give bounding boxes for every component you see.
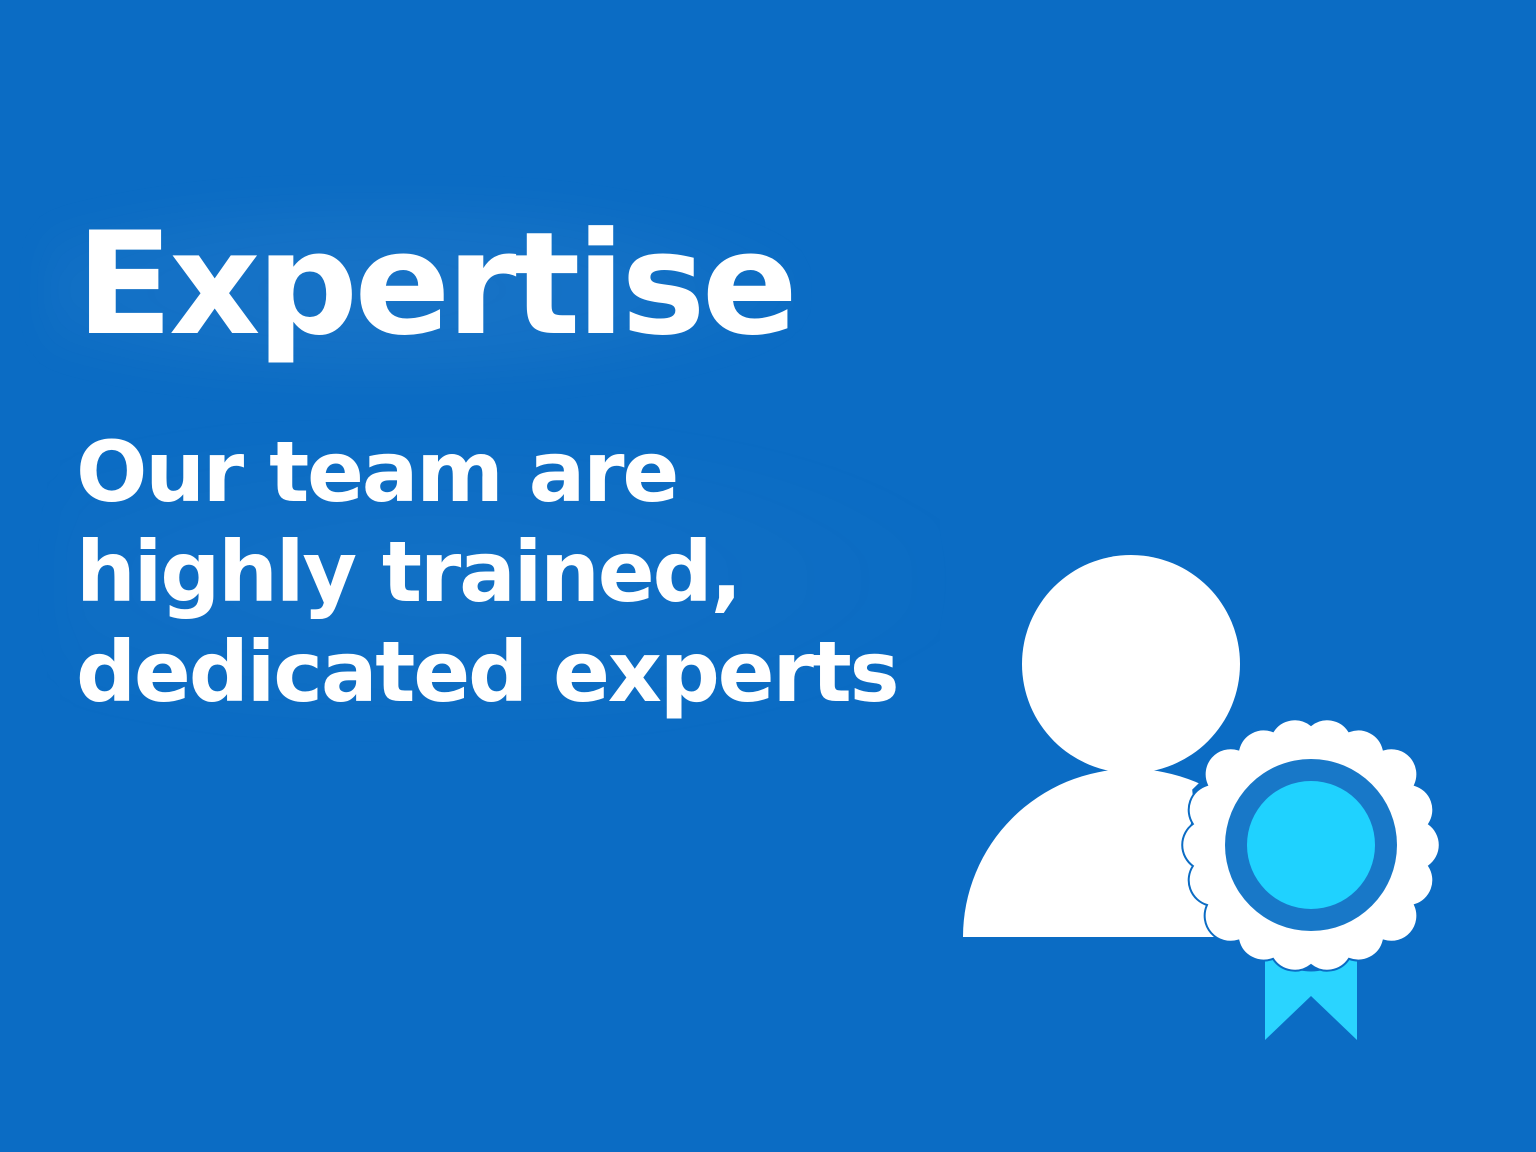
award-rosette xyxy=(1182,719,1440,970)
text-block: Expertise Our team are highly trained, d… xyxy=(76,214,976,722)
person-head xyxy=(1022,555,1240,773)
page-title: Expertise xyxy=(76,214,976,356)
expert-person-award-icon xyxy=(930,510,1470,1070)
award-center xyxy=(1247,781,1375,909)
slide-canvas: Expertise Our team are highly trained, d… xyxy=(0,0,1536,1152)
page-subtitle: Our team are highly trained, dedicated e… xyxy=(76,422,906,722)
